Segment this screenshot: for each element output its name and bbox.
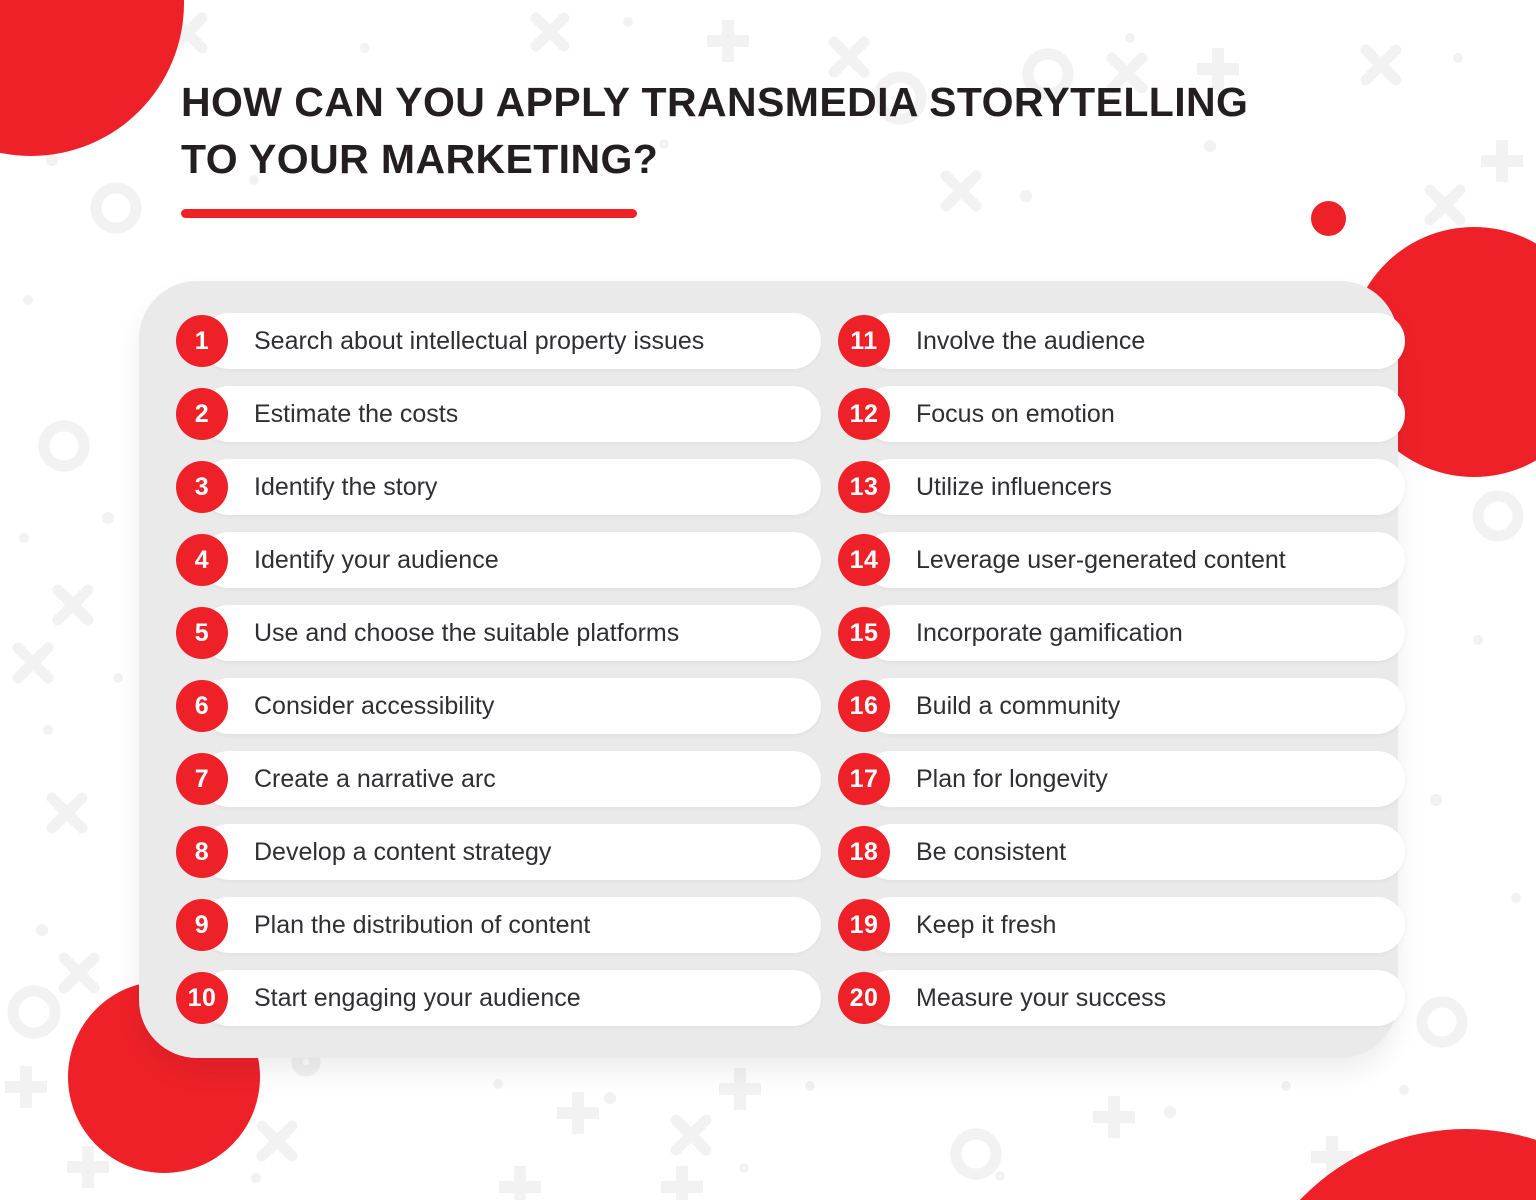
list-item-number-badge: 6 xyxy=(176,680,228,732)
list-item[interactable]: 20Measure your success xyxy=(838,970,1405,1026)
list-item-label: Consider accessibility xyxy=(254,692,494,721)
list-item[interactable]: 18Be consistent xyxy=(838,824,1405,880)
list-item[interactable]: 7Create a narrative arc xyxy=(176,751,821,807)
list-item-number-badge: 15 xyxy=(838,607,890,659)
list-item-number-badge: 11 xyxy=(838,315,890,367)
red-dot-top-right xyxy=(1311,201,1346,236)
list-item[interactable]: 19Keep it fresh xyxy=(838,897,1405,953)
list-item[interactable]: 11Involve the audience xyxy=(838,313,1405,369)
list-item-label: Identify your audience xyxy=(254,546,499,575)
list-item[interactable]: 1Search about intellectual property issu… xyxy=(176,313,821,369)
list-item-number-badge: 4 xyxy=(176,534,228,586)
list-item-label: Create a narrative arc xyxy=(254,765,496,794)
infographic-canvas: HOW CAN YOU APPLY TRANSMEDIA STORYTELLIN… xyxy=(0,0,1536,1200)
list-item[interactable]: 6Consider accessibility xyxy=(176,678,821,734)
list-item[interactable]: 8Develop a content strategy xyxy=(176,824,821,880)
list-item-label: Plan for longevity xyxy=(916,765,1108,794)
list-item-label: Develop a content strategy xyxy=(254,838,551,867)
list-item-number-badge: 14 xyxy=(838,534,890,586)
list-item-label: Identify the story xyxy=(254,473,437,502)
list-item-number-badge: 9 xyxy=(176,899,228,951)
list-item-number-badge: 10 xyxy=(176,972,228,1024)
list-item-label: Build a community xyxy=(916,692,1120,721)
list-item[interactable]: 14Leverage user-generated content xyxy=(838,532,1405,588)
steps-column-right: 11Involve the audience12Focus on emotion… xyxy=(838,313,1405,1026)
list-item[interactable]: 5Use and choose the suitable platforms xyxy=(176,605,821,661)
list-item-number-badge: 17 xyxy=(838,753,890,805)
header: HOW CAN YOU APPLY TRANSMEDIA STORYTELLIN… xyxy=(181,74,1301,218)
red-dot-bottom-left xyxy=(213,1090,247,1124)
list-item-label: Keep it fresh xyxy=(916,911,1056,940)
list-item-label: Start engaging your audience xyxy=(254,984,581,1013)
list-item-number-badge: 19 xyxy=(838,899,890,951)
list-item[interactable]: 3Identify the story xyxy=(176,459,821,515)
list-item-number-badge: 20 xyxy=(838,972,890,1024)
list-item[interactable]: 15Incorporate gamification xyxy=(838,605,1405,661)
list-item-number-badge: 2 xyxy=(176,388,228,440)
list-item[interactable]: 2Estimate the costs xyxy=(176,386,821,442)
list-item[interactable]: 4Identify your audience xyxy=(176,532,821,588)
list-item-number-badge: 12 xyxy=(838,388,890,440)
list-item-number-badge: 7 xyxy=(176,753,228,805)
steps-column-left: 1Search about intellectual property issu… xyxy=(176,313,821,1026)
list-item-label: Use and choose the suitable platforms xyxy=(254,619,679,648)
list-item[interactable]: 16Build a community xyxy=(838,678,1405,734)
list-item-label: Incorporate gamification xyxy=(916,619,1183,648)
list-item-label: Utilize influencers xyxy=(916,473,1112,502)
list-item-number-badge: 18 xyxy=(838,826,890,878)
list-item-number-badge: 3 xyxy=(176,461,228,513)
list-item-number-badge: 1 xyxy=(176,315,228,367)
list-item[interactable]: 13Utilize influencers xyxy=(838,459,1405,515)
list-item-label: Focus on emotion xyxy=(916,400,1115,429)
title-underline xyxy=(181,209,637,218)
list-item-label: Plan the distribution of content xyxy=(254,911,590,940)
list-item-number-badge: 13 xyxy=(838,461,890,513)
list-item-label: Be consistent xyxy=(916,838,1066,867)
list-item-number-badge: 8 xyxy=(176,826,228,878)
page-title: HOW CAN YOU APPLY TRANSMEDIA STORYTELLIN… xyxy=(181,74,1301,187)
list-item[interactable]: 10Start engaging your audience xyxy=(176,970,821,1026)
steps-card: 1Search about intellectual property issu… xyxy=(139,281,1398,1058)
list-item-label: Estimate the costs xyxy=(254,400,458,429)
list-item-number-badge: 5 xyxy=(176,607,228,659)
list-item-label: Involve the audience xyxy=(916,327,1145,356)
list-item[interactable]: 12Focus on emotion xyxy=(838,386,1405,442)
list-item-number-badge: 16 xyxy=(838,680,890,732)
list-item-label: Measure your success xyxy=(916,984,1166,1013)
list-item[interactable]: 9Plan the distribution of content xyxy=(176,897,821,953)
list-item-label: Search about intellectual property issue… xyxy=(254,327,704,356)
list-item-label: Leverage user-generated content xyxy=(916,546,1286,575)
list-item[interactable]: 17Plan for longevity xyxy=(838,751,1405,807)
